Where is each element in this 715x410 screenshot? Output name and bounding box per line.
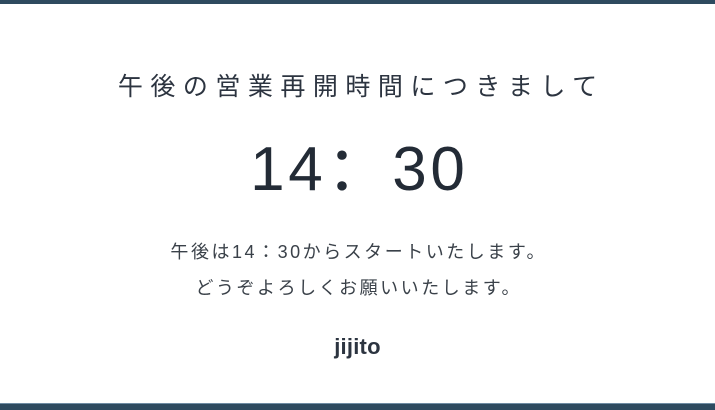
brand-name: jijito bbox=[0, 334, 715, 360]
page-title: 午後の営業再開時間につきまして bbox=[0, 72, 715, 102]
body-text-block: 午後は14：30からスタートいたします。 どうぞよろしくお願いいたします。 bbox=[0, 234, 715, 306]
reopen-time: 14：30 bbox=[0, 137, 715, 202]
body-line: 午後は14：30からスタートいたします。 bbox=[0, 234, 715, 270]
slide-content: 午後の営業再開時間につきまして 14：30 午後は14：30からスタートいたしま… bbox=[0, 0, 715, 410]
notice-slide: 午後の営業再開時間につきまして 14：30 午後は14：30からスタートいたしま… bbox=[0, 0, 715, 410]
bottom-accent-rule bbox=[0, 403, 715, 410]
body-line: どうぞよろしくお願いいたします。 bbox=[0, 270, 715, 306]
